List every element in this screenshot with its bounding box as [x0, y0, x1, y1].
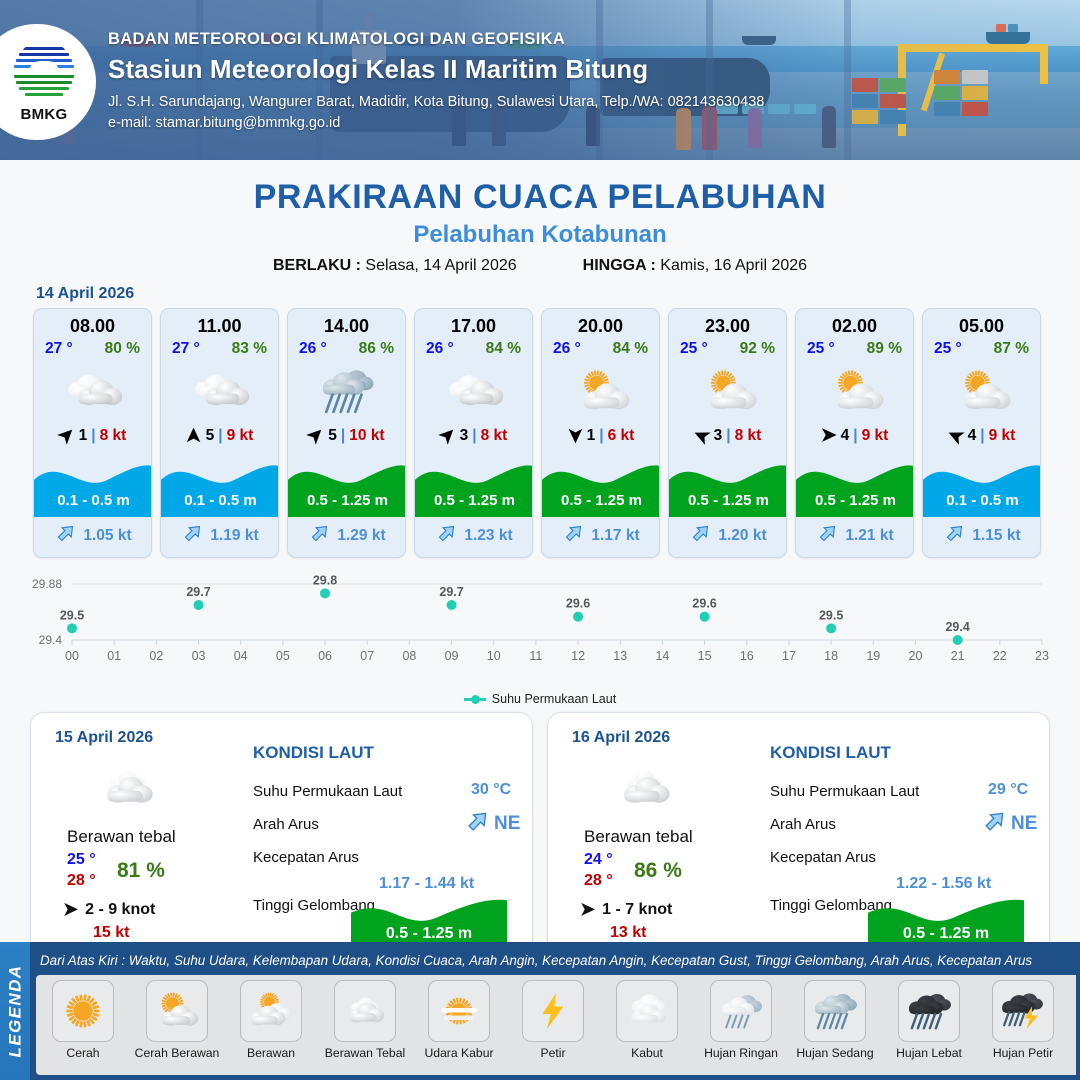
card-humidity: 89 %	[867, 340, 902, 358]
legend-item[interactable]: Hujan Petir	[976, 975, 1070, 1075]
day-wave-height: 0.5 - 1.25 m	[351, 925, 507, 943]
wind-direction-arrow-icon: ➤	[63, 899, 78, 920]
valid-to-value: Kamis, 16 April 2026	[660, 257, 807, 274]
card-wind-separator: |	[599, 427, 603, 445]
legend-item-label: Hujan Sedang	[796, 1046, 873, 1060]
agency-name: BADAN METEOROLOGI KLIMATOLOGI DAN GEOFIS…	[108, 30, 764, 49]
svg-text:12: 12	[571, 649, 585, 663]
thunderstorm-icon	[992, 980, 1054, 1042]
card-wind-direction: 4	[968, 427, 977, 445]
card-wind-separator: |	[472, 427, 476, 445]
partly-cloudy-icon	[669, 360, 786, 422]
legend-item-label: Petir	[540, 1046, 565, 1060]
sst-value: 30 °C	[471, 781, 511, 799]
card-temp-hum-row: 27 ° 83 %	[161, 340, 278, 358]
day-wind-range: 1 - 7 knot	[602, 901, 672, 919]
card-wind-separator: |	[91, 427, 95, 445]
partly-cloudy-icon	[796, 360, 913, 422]
validity-row: BERLAKU : Selasa, 14 April 2026 HINGGA :…	[0, 257, 1080, 275]
lightning-icon	[522, 980, 584, 1042]
svg-text:08: 08	[402, 649, 416, 663]
card-current-speed: 1.05 kt	[83, 527, 131, 545]
svg-text:29.4: 29.4	[39, 633, 63, 647]
card-wind-row: ➤ 3 | 8 kt	[415, 426, 532, 445]
sun-cloud-icon	[146, 980, 208, 1042]
moderate-rain-icon	[804, 980, 866, 1042]
valid-from: BERLAKU : Selasa, 14 April 2026	[273, 257, 517, 275]
current-direction-arrow-icon	[465, 808, 491, 839]
svg-text:15: 15	[698, 649, 712, 663]
card-humidity: 80 %	[105, 340, 140, 358]
svg-text:29.88: 29.88	[32, 577, 62, 591]
cloudy-icon	[161, 360, 278, 422]
card-wave-height: 0.5 - 1.25 m	[542, 492, 660, 509]
card-wind-separator: |	[341, 427, 345, 445]
legend-item[interactable]: Petir	[506, 975, 600, 1075]
legend-item-label: Berawan	[247, 1046, 295, 1060]
station-email: e-mail: stamar.bitung@bmmkg.go.id	[108, 115, 764, 131]
card-wave-height: 0.1 - 0.5 m	[161, 492, 279, 509]
day-wind-range: 2 - 9 knot	[85, 901, 155, 919]
day-gust-speed: 13 kt	[610, 924, 646, 942]
legend-item-label: Udara Kabur	[424, 1046, 493, 1060]
card-temp-hum-row: 25 ° 92 %	[669, 340, 786, 358]
legend-side-tab: LEGENDA	[0, 942, 30, 1080]
card-wind-separator: |	[218, 427, 222, 445]
card-wind-speed: 6 kt	[608, 427, 635, 445]
legend-item[interactable]: Berawan Tebal	[318, 975, 412, 1075]
legend-item[interactable]: Hujan Lebat	[882, 975, 976, 1075]
card-current-speed: 1.15 kt	[972, 527, 1020, 545]
svg-text:11: 11	[529, 649, 542, 663]
svg-text:20: 20	[909, 649, 923, 663]
card-wind-row: ➤ 4 | 9 kt	[923, 426, 1040, 445]
svg-text:01: 01	[107, 649, 121, 663]
legend-item-label: Cerah Berawan	[135, 1046, 220, 1060]
wind-direction-arrow-icon: ➤	[944, 424, 966, 448]
card-temperature: 25 °	[680, 340, 708, 358]
card-wind-separator: |	[980, 427, 984, 445]
current-direction-arrow-icon	[982, 808, 1008, 839]
legend-item-label: Hujan Petir	[993, 1046, 1053, 1060]
card-wind-speed: 8 kt	[100, 427, 127, 445]
sst-chart: 29.8829.40001020304050607080910111213141…	[0, 570, 1080, 690]
svg-text:29.7: 29.7	[439, 585, 463, 599]
page-subtitle: Pelabuhan Kotabunan	[0, 221, 1080, 249]
svg-text:02: 02	[149, 649, 163, 663]
daily-forecast-panels: 15 April 2026 Berawan tebal 25 ° 28 ° 81…	[0, 712, 1080, 960]
day-wind-row: ➤ 1 - 7 knot	[580, 899, 672, 920]
card-wind-direction: 5	[328, 427, 337, 445]
current-direction-arrow-icon	[817, 522, 839, 549]
card-current-row: 1.29 kt	[288, 522, 406, 549]
card-temp-hum-row: 26 ° 86 %	[288, 340, 405, 358]
svg-text:22: 22	[993, 649, 1007, 663]
cloudy-icon	[34, 360, 151, 422]
day-date: 16 April 2026	[572, 729, 670, 747]
card-current-speed: 1.20 kt	[718, 527, 766, 545]
card-wind-speed: 9 kt	[862, 427, 889, 445]
overcast-icon	[614, 757, 676, 824]
wind-direction-arrow-icon: ➤	[821, 426, 837, 445]
current-speed-label: Kecepatan Arus	[770, 849, 876, 866]
legend-item[interactable]: Kabut	[600, 975, 694, 1075]
svg-text:13: 13	[613, 649, 627, 663]
card-wind-row: ➤ 4 | 9 kt	[796, 426, 913, 445]
current-direction-arrow-icon	[563, 522, 585, 549]
sun-icon	[52, 980, 114, 1042]
legend-section: LEGENDA Dari Atas Kiri : Waktu, Suhu Uda…	[0, 942, 1080, 1080]
svg-text:19: 19	[866, 649, 880, 663]
day-humidity: 81 %	[117, 859, 165, 883]
card-wind-speed: 8 kt	[735, 427, 762, 445]
wind-direction-arrow-icon: ➤	[580, 899, 595, 920]
day-condition: Berawan tebal	[584, 827, 693, 847]
legend-side-label: LEGENDA	[5, 965, 25, 1058]
wind-direction-arrow-icon: ➤	[565, 428, 584, 444]
page-title: PRAKIRAAN CUACA PELABUHAN	[0, 178, 1080, 217]
strip-date-label: 14 April 2026	[36, 285, 1080, 303]
sst-label: Suhu Permukaan Laut	[770, 783, 919, 800]
card-time: 11.00	[161, 316, 278, 337]
svg-text:29.6: 29.6	[566, 597, 590, 611]
card-wave-height: 0.1 - 0.5 m	[923, 492, 1041, 509]
sst-value: 29 °C	[988, 781, 1028, 799]
chart-legend: Suhu Permukaan Laut	[0, 692, 1080, 706]
card-current-speed: 1.17 kt	[591, 527, 639, 545]
card-temperature: 27 °	[172, 340, 200, 358]
svg-text:29.6: 29.6	[692, 597, 716, 611]
hourly-forecast-strip: 08.00 27 ° 80 % ➤ 1 | 8 kt	[0, 308, 1080, 558]
card-wind-direction: 4	[841, 427, 850, 445]
legend-icon-strip: Cerah Cerah Berawan	[36, 975, 1076, 1075]
day-humidity: 86 %	[634, 859, 682, 883]
svg-text:03: 03	[192, 649, 206, 663]
card-time: 23.00	[669, 316, 786, 337]
haze-icon	[428, 980, 490, 1042]
card-wind-row: ➤ 1 | 6 kt	[542, 426, 659, 445]
daily-forecast-panel[interactable]: 16 April 2026 Berawan tebal 24 ° 28 ° 86…	[547, 712, 1050, 960]
day-temp-min: 24 °	[584, 851, 613, 869]
card-wave-height: 0.5 - 1.25 m	[796, 492, 914, 509]
svg-text:29.5: 29.5	[819, 608, 843, 622]
svg-text:18: 18	[824, 649, 838, 663]
legend-item[interactable]: Cerah	[36, 975, 130, 1075]
forecast-card[interactable]: 14.00 26 ° 86 % ➤ 5 | 10 k	[287, 308, 406, 558]
day-temp-min: 25 °	[67, 851, 96, 869]
svg-text:04: 04	[234, 649, 248, 663]
card-temp-hum-row: 26 ° 84 %	[415, 340, 532, 358]
card-temp-hum-row: 25 ° 89 %	[796, 340, 913, 358]
svg-text:29.5: 29.5	[60, 608, 84, 622]
card-wind-speed: 8 kt	[481, 427, 508, 445]
chart-legend-marker	[464, 698, 486, 701]
legend-item-label: Hujan Ringan	[704, 1046, 778, 1060]
header-text-block: BADAN METEOROLOGI KLIMATOLOGI DAN GEOFIS…	[108, 30, 764, 131]
current-direction-arrow-icon	[55, 522, 77, 549]
card-current-speed: 1.29 kt	[337, 527, 385, 545]
current-direction-arrow-icon	[690, 522, 712, 549]
cloud-sun-icon	[240, 980, 302, 1042]
card-current-speed: 1.23 kt	[464, 527, 512, 545]
current-direction-label: Arah Arus	[770, 816, 836, 833]
svg-text:14: 14	[655, 649, 669, 663]
card-wind-speed: 9 kt	[989, 427, 1016, 445]
card-wind-direction: 1	[587, 427, 596, 445]
svg-text:07: 07	[360, 649, 374, 663]
wind-direction-arrow-icon: ➤	[435, 423, 460, 448]
legend-item-label: Hujan Lebat	[896, 1046, 962, 1060]
current-direction-arrow-icon	[436, 522, 458, 549]
partly-cloudy-icon	[923, 360, 1040, 422]
svg-text:17: 17	[782, 649, 796, 663]
day-gust-speed: 15 kt	[93, 924, 129, 942]
forecast-card[interactable]: 23.00 25 ° 92 % ➤ 3 | 8 kt 0.5 - 1.25 m	[668, 308, 787, 558]
current-speed-value: 1.17 - 1.44 kt	[379, 875, 474, 893]
card-humidity: 92 %	[740, 340, 775, 358]
current-direction-value-group: NE	[465, 808, 520, 839]
valid-to: HINGGA : Kamis, 16 April 2026	[583, 257, 807, 275]
card-current-row: 1.20 kt	[669, 522, 787, 549]
day-date: 15 April 2026	[55, 729, 153, 747]
cloudy-icon	[415, 360, 532, 422]
card-wind-row: ➤ 1 | 8 kt	[34, 426, 151, 445]
card-humidity: 86 %	[359, 340, 394, 358]
legend-item-label: Cerah	[66, 1046, 99, 1060]
sea-conditions-title: KONDISI LAUT	[253, 743, 374, 763]
valid-from-value: Selasa, 14 April 2026	[365, 257, 516, 274]
forecast-card[interactable]: 05.00 25 ° 87 % ➤ 4 | 9 kt 0.1 - 0.5 m 1	[922, 308, 1041, 558]
card-time: 20.00	[542, 316, 659, 337]
wind-direction-arrow-icon: ➤	[304, 423, 329, 448]
current-direction-value-group: NE	[982, 808, 1037, 839]
card-wave-height: 0.1 - 0.5 m	[34, 492, 152, 509]
svg-text:29.7: 29.7	[186, 585, 210, 599]
day-temp-max: 28 °	[67, 872, 96, 890]
card-wind-separator: |	[726, 427, 730, 445]
svg-text:16: 16	[740, 649, 754, 663]
sst-chart-svg: 29.8829.40001020304050607080910111213141…	[0, 570, 1080, 680]
heavy-rain-icon	[898, 980, 960, 1042]
day-wind-row: ➤ 2 - 9 knot	[63, 899, 155, 920]
day-wave-height: 0.5 - 1.25 m	[868, 925, 1024, 943]
card-current-row: 1.19 kt	[161, 522, 279, 549]
sst-label: Suhu Permukaan Laut	[253, 783, 402, 800]
svg-text:10: 10	[487, 649, 501, 663]
card-wind-speed: 9 kt	[227, 427, 254, 445]
card-time: 02.00	[796, 316, 913, 337]
bmkg-logo-text: BMKG	[20, 106, 67, 123]
card-wave-height: 0.5 - 1.25 m	[669, 492, 787, 509]
current-speed-label: Kecepatan Arus	[253, 849, 359, 866]
page-header: BMKG BADAN METEOROLOGI KLIMATOLOGI DAN G…	[0, 0, 1080, 160]
bmkg-emblem-icon	[13, 41, 75, 103]
card-wind-row: ➤ 5 | 9 kt	[161, 426, 278, 445]
card-time: 17.00	[415, 316, 532, 337]
card-temperature: 27 °	[45, 340, 73, 358]
card-current-row: 1.05 kt	[34, 522, 152, 549]
legend-item[interactable]: Berawan	[224, 975, 318, 1075]
card-wind-direction: 1	[79, 427, 88, 445]
valid-from-label: BERLAKU :	[273, 257, 361, 274]
svg-text:09: 09	[445, 649, 459, 663]
overcast-icon	[334, 980, 396, 1042]
card-time: 14.00	[288, 316, 405, 337]
card-time: 08.00	[34, 316, 151, 337]
legend-item[interactable]: Hujan Sedang	[788, 975, 882, 1075]
current-direction-value: NE	[494, 813, 520, 835]
legend-item[interactable]: Hujan Ringan	[694, 975, 788, 1075]
card-temperature: 25 °	[934, 340, 962, 358]
wind-direction-arrow-icon: ➤	[184, 428, 203, 444]
svg-text:06: 06	[318, 649, 332, 663]
svg-text:23: 23	[1035, 649, 1049, 663]
current-speed-value: 1.22 - 1.56 kt	[896, 875, 991, 893]
card-temp-hum-row: 26 ° 84 %	[542, 340, 659, 358]
chart-legend-label: Suhu Permukaan Laut	[492, 692, 616, 706]
valid-to-label: HINGGA :	[583, 257, 656, 274]
card-wind-row: ➤ 5 | 10 kt	[288, 426, 405, 445]
current-direction-arrow-icon	[309, 522, 331, 549]
card-temperature: 26 °	[553, 340, 581, 358]
svg-text:05: 05	[276, 649, 290, 663]
card-current-row: 1.17 kt	[542, 522, 660, 549]
svg-text:29.8: 29.8	[313, 573, 337, 587]
legend-note: Dari Atas Kiri : Waktu, Suhu Udara, Kele…	[40, 953, 1032, 968]
forecast-card[interactable]: 08.00 27 ° 80 % ➤ 1 | 8 kt	[33, 308, 152, 558]
card-wave-height: 0.5 - 1.25 m	[415, 492, 533, 509]
card-wind-direction: 3	[460, 427, 469, 445]
card-humidity: 83 %	[232, 340, 267, 358]
card-current-row: 1.21 kt	[796, 522, 914, 549]
moderate-rain-icon	[288, 360, 405, 422]
wind-direction-arrow-icon: ➤	[690, 424, 712, 448]
fog-icon	[616, 980, 678, 1042]
legend-item[interactable]: Udara Kabur	[412, 975, 506, 1075]
card-time: 05.00	[923, 316, 1040, 337]
svg-text:29.4: 29.4	[945, 620, 969, 634]
card-temp-hum-row: 27 ° 80 %	[34, 340, 151, 358]
card-temp-hum-row: 25 ° 87 %	[923, 340, 1040, 358]
card-current-speed: 1.21 kt	[845, 527, 893, 545]
legend-item-label: Kabut	[631, 1046, 663, 1060]
svg-text:00: 00	[65, 649, 79, 663]
day-temp-max: 28 °	[584, 872, 613, 890]
light-rain-icon	[710, 980, 772, 1042]
station-name: Stasiun Meteorologi Kelas II Maritim Bit…	[108, 54, 764, 85]
legend-item-label: Berawan Tebal	[325, 1046, 405, 1060]
card-wind-speed: 10 kt	[349, 427, 384, 445]
card-current-row: 1.23 kt	[415, 522, 533, 549]
card-temperature: 26 °	[299, 340, 327, 358]
current-direction-arrow-icon	[944, 522, 966, 549]
forecast-card[interactable]: 20.00 26 ° 84 % ➤ 1 | 6 kt 0.5 - 1.25 m	[541, 308, 660, 558]
wind-direction-arrow-icon: ➤	[54, 423, 79, 448]
overcast-icon	[97, 757, 159, 824]
card-temperature: 26 °	[426, 340, 454, 358]
day-condition: Berawan tebal	[67, 827, 176, 847]
current-direction-value: NE	[1011, 813, 1037, 835]
card-wave-height: 0.5 - 1.25 m	[288, 492, 406, 509]
card-wind-direction: 5	[206, 427, 215, 445]
legend-item[interactable]: Cerah Berawan	[130, 975, 224, 1075]
daily-forecast-panel[interactable]: 15 April 2026 Berawan tebal 25 ° 28 ° 81…	[30, 712, 533, 960]
current-direction-label: Arah Arus	[253, 816, 319, 833]
svg-text:21: 21	[951, 649, 965, 663]
forecast-card[interactable]: 17.00 26 ° 84 % ➤ 3 | 8 kt	[414, 308, 533, 558]
card-humidity: 84 %	[613, 340, 648, 358]
card-temperature: 25 °	[807, 340, 835, 358]
card-current-row: 1.15 kt	[923, 522, 1041, 549]
card-current-speed: 1.19 kt	[210, 527, 258, 545]
card-wind-direction: 3	[714, 427, 723, 445]
current-direction-arrow-icon	[182, 522, 204, 549]
station-address: Jl. S.H. Sarundajang, Wangurer Barat, Ma…	[108, 94, 764, 110]
sea-conditions-title: KONDISI LAUT	[770, 743, 891, 763]
card-wind-separator: |	[853, 427, 857, 445]
partly-cloudy-icon	[542, 360, 659, 422]
forecast-card[interactable]: 11.00 27 ° 83 % ➤ 5 | 9 kt	[160, 308, 279, 558]
card-wind-row: ➤ 3 | 8 kt	[669, 426, 786, 445]
card-humidity: 84 %	[486, 340, 521, 358]
forecast-card[interactable]: 02.00 25 ° 89 % ➤ 4 | 9 kt 0.5 - 1.25 m	[795, 308, 914, 558]
card-humidity: 87 %	[994, 340, 1029, 358]
